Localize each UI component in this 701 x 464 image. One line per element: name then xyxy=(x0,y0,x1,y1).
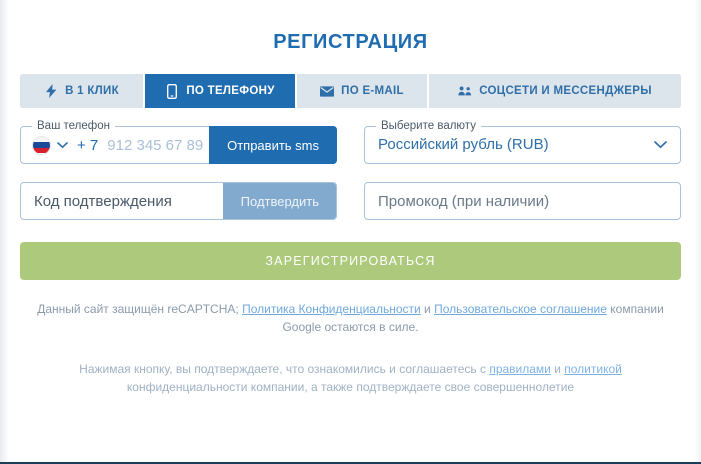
promo-code-field xyxy=(364,182,681,220)
phone-dial-code: + 7 xyxy=(77,137,98,154)
tab-one-click[interactable]: В 1 КЛИК xyxy=(20,74,145,108)
form-row-phone-currency: Ваш телефон + 7 Отправить s xyxy=(20,126,681,164)
recaptcha-disclaimer: Данный сайт защищён reCAPTCHA; Политика … xyxy=(20,300,681,336)
chevron-down-icon[interactable] xyxy=(654,141,667,149)
phone-field: Ваш телефон + 7 Отправить s xyxy=(20,126,337,164)
tab-one-click-label: В 1 КЛИК xyxy=(65,85,119,97)
tab-social-networks[interactable]: СОЦСЕТИ И МЕССЕНДЖЕРЫ xyxy=(429,74,681,108)
phone-legend: Ваш телефон xyxy=(32,119,115,133)
rules-link[interactable]: правилами xyxy=(489,362,551,376)
registration-form-container: РЕГИСТРАЦИЯ В 1 КЛИК ПО ТЕЛЕФОН xyxy=(20,0,681,464)
country-chevron-down-icon[interactable] xyxy=(57,142,68,149)
promo-code-column xyxy=(364,182,681,220)
confirm-code-button[interactable]: Подтвердить xyxy=(223,182,337,220)
tab-by-phone-label: ПО ТЕЛЕФОНУ xyxy=(186,85,274,97)
privacy-policy-link[interactable]: Политика Конфиденциальности xyxy=(242,302,421,316)
phone-column: Ваш телефон + 7 Отправить s xyxy=(20,126,337,164)
currency-legend: Выберите валюту xyxy=(376,119,481,133)
registration-page: РЕГИСТРАЦИЯ В 1 КЛИК ПО ТЕЛЕФОН xyxy=(0,0,701,464)
promo-code-input[interactable] xyxy=(365,183,680,219)
form-row-code-promo: Подтвердить xyxy=(20,182,681,220)
tab-by-phone[interactable]: ПО ТЕЛЕФОНУ xyxy=(145,74,297,108)
currency-select[interactable]: Выберите валюту Российский рубль (RUB) xyxy=(364,126,681,164)
policy-link[interactable]: политикой xyxy=(564,362,622,376)
page-title: РЕГИСТРАЦИЯ xyxy=(20,0,681,54)
tab-by-email[interactable]: ПО E-MAIL xyxy=(297,74,429,108)
confirmation-code-column: Подтвердить xyxy=(20,182,337,220)
tab-by-email-label: ПО E-MAIL xyxy=(341,85,404,97)
confirmation-code-field: Подтвердить xyxy=(20,182,337,220)
left-edge-shadow xyxy=(0,0,9,464)
users-group-icon xyxy=(458,84,472,98)
bolt-icon xyxy=(44,84,58,98)
recaptcha-text-middle: и xyxy=(421,302,434,316)
consent-text-middle: и xyxy=(551,362,564,376)
mobile-phone-icon xyxy=(165,84,179,98)
terms-of-service-link[interactable]: Пользовательское соглашение xyxy=(434,302,607,316)
consent-disclaimer: Нажимая кнопку, вы подтверждаете, что оз… xyxy=(20,360,681,396)
recaptcha-text-before: Данный сайт защищён reCAPTCHA; xyxy=(37,302,242,316)
consent-text-after: конфиденциальности компании, а также под… xyxy=(127,380,574,394)
currency-column: Выберите валюту Российский рубль (RUB) xyxy=(364,126,681,164)
registration-method-tabs: В 1 КЛИК ПО ТЕЛЕФОНУ П xyxy=(20,74,681,108)
envelope-icon xyxy=(320,84,334,98)
phone-input[interactable] xyxy=(107,137,209,154)
consent-text-before: Нажимая кнопку, вы подтверждаете, что оз… xyxy=(79,362,489,376)
register-submit-button[interactable]: ЗАРЕГИСТРИРОВАТЬСЯ xyxy=(20,242,681,280)
send-sms-button[interactable]: Отправить sms xyxy=(209,126,337,164)
right-edge-shadow xyxy=(694,0,701,464)
tab-social-networks-label: СОЦСЕТИ И МЕССЕНДЖЕРЫ xyxy=(479,85,652,97)
confirmation-code-input[interactable] xyxy=(21,183,223,219)
russia-flag-icon[interactable] xyxy=(32,136,51,155)
